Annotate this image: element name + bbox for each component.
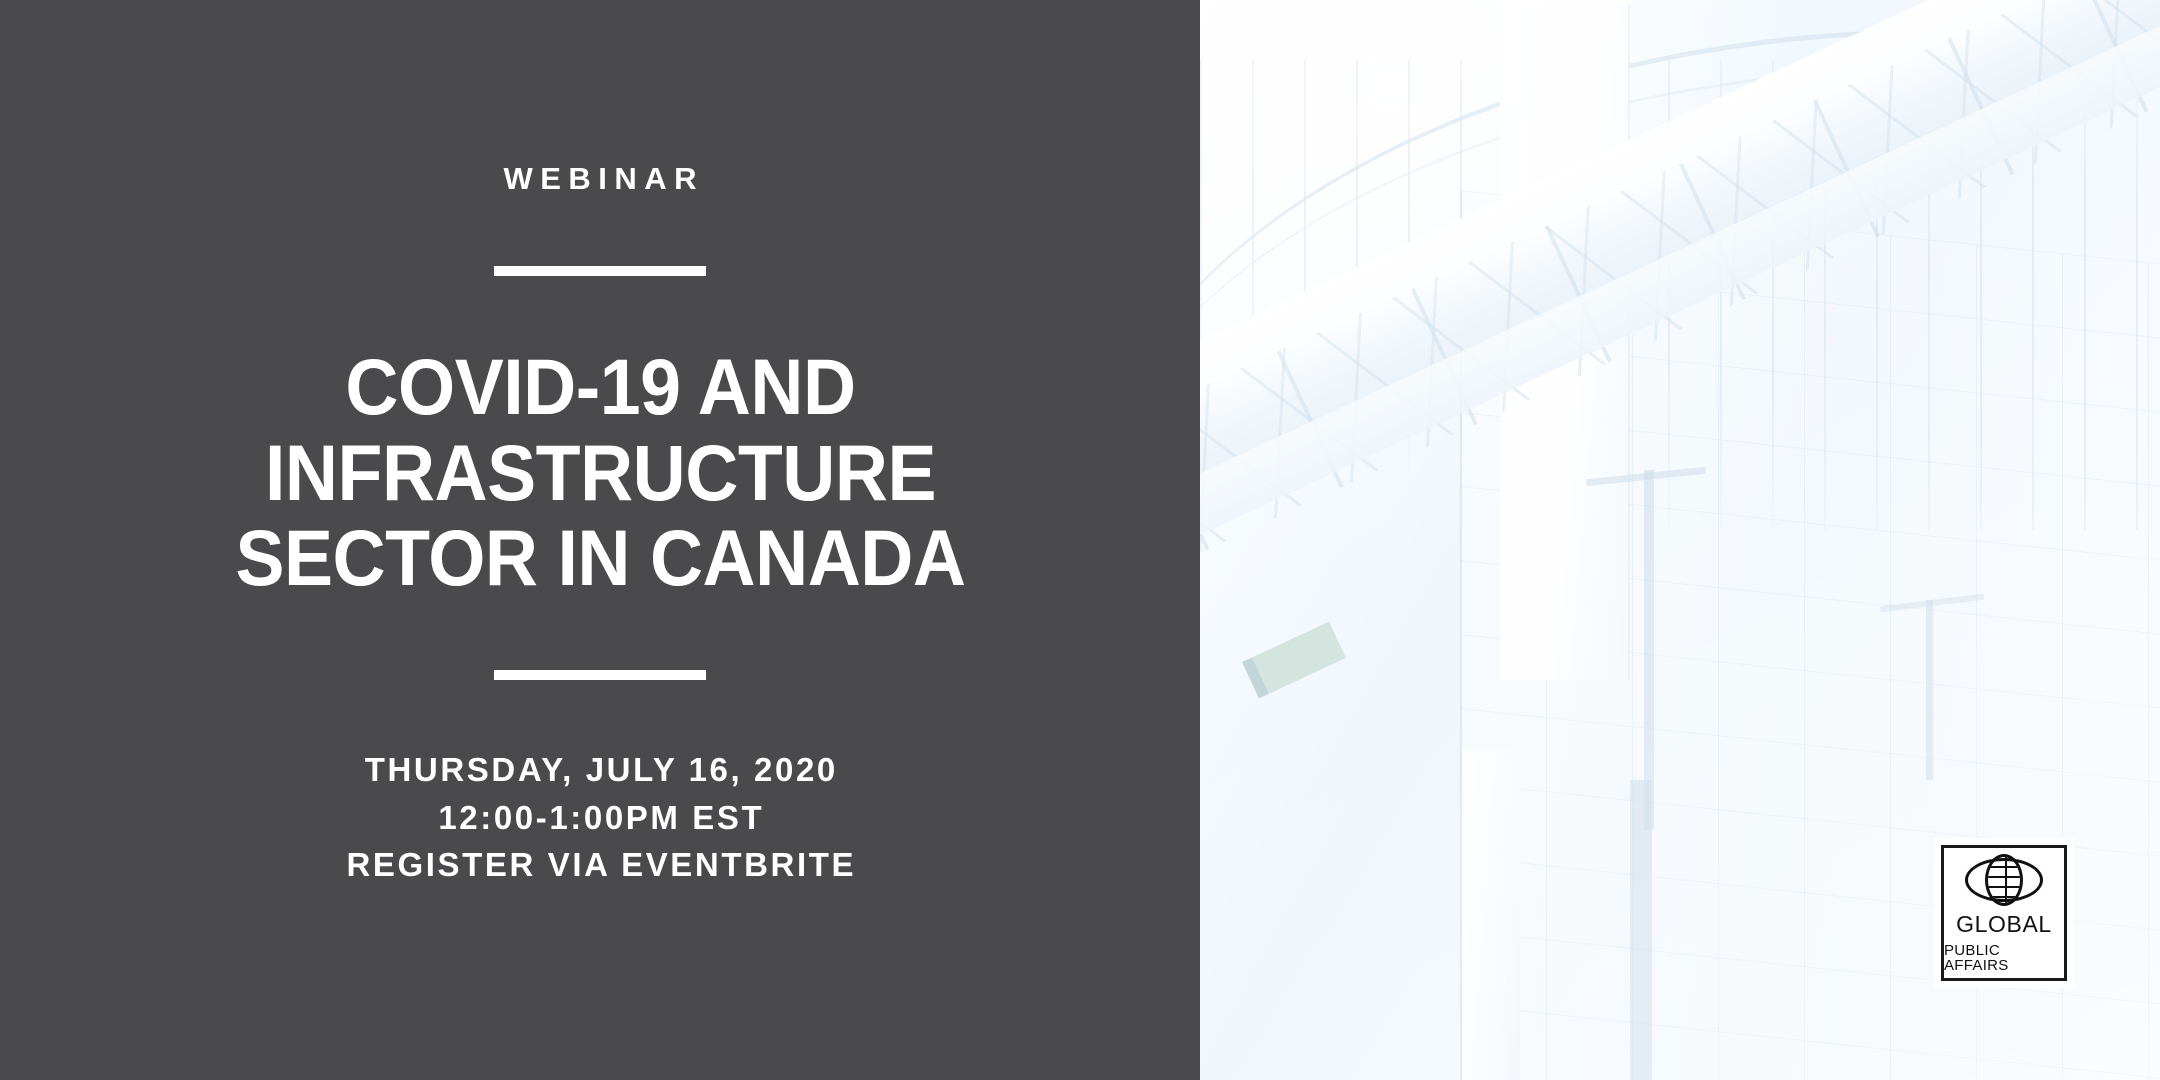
globe-latitude-line <box>1985 866 2023 868</box>
globe-latitude-line <box>1985 876 2023 878</box>
page-title-line-2: INFRASTRUCTURE <box>235 430 965 515</box>
divider-rule-top <box>494 266 706 276</box>
globe-sphere <box>1985 854 2023 906</box>
page-title-line-1: COVID-19 AND <box>235 344 965 429</box>
event-details: THURSDAY, JULY 16, 2020 12:00-1:00PM EST… <box>344 746 856 889</box>
registration-note: REGISTER VIA EVENTBRITE <box>344 841 856 889</box>
globe-icon <box>1965 854 2043 906</box>
page-title-line-3: SECTOR IN CANADA <box>235 515 965 600</box>
poster-content: WEBINAR COVID-19 AND INFRASTRUCTURE SECT… <box>0 0 1200 1080</box>
globe-latitude-line <box>1985 896 2023 898</box>
divider-rule-bottom <box>494 670 706 680</box>
logo-primary-text: GLOBAL <box>1956 913 2052 936</box>
event-time: 12:00-1:00PM EST <box>344 794 856 842</box>
page-title: COVID-19 AND INFRASTRUCTURE SECTOR IN CA… <box>235 344 965 600</box>
eyebrow-label: WEBINAR <box>496 163 704 194</box>
logo-secondary-text: PUBLIC AFFAIRS <box>1944 943 2064 973</box>
event-date: THURSDAY, JULY 16, 2020 <box>344 746 856 794</box>
globe-meridian-line <box>2005 855 2007 906</box>
global-public-affairs-logo: GLOBAL PUBLIC AFFAIRS <box>1934 838 2074 988</box>
webinar-promo-poster: WEBINAR COVID-19 AND INFRASTRUCTURE SECT… <box>0 0 2160 1080</box>
logo-frame: GLOBAL PUBLIC AFFAIRS <box>1941 845 2067 981</box>
globe-latitude-line <box>1985 886 2023 888</box>
